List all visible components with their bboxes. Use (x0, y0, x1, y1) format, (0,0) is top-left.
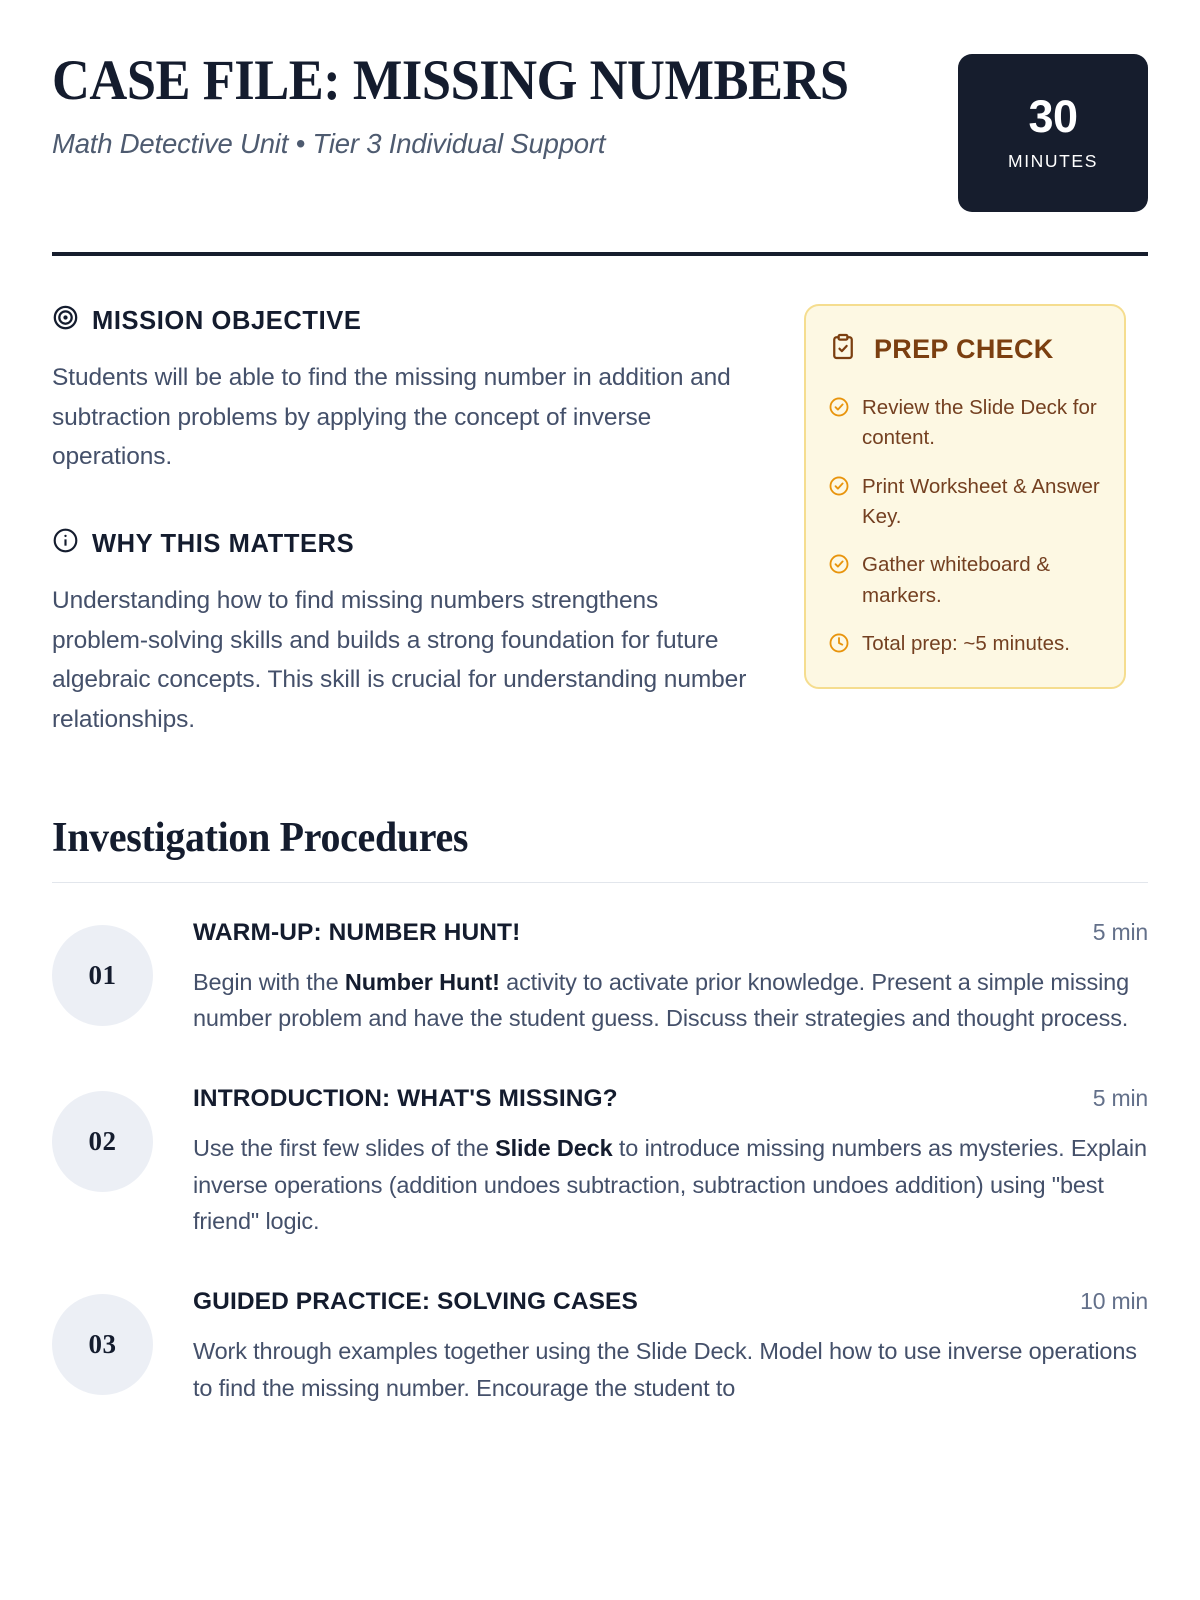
why-this-matters-text: Understanding how to find missing number… (52, 581, 752, 740)
step-body: WARM-UP: NUMBER HUNT! 5 min Begin with t… (193, 919, 1148, 1037)
page-header: CASE FILE: MISSING NUMBERS Math Detectiv… (52, 48, 1148, 212)
lesson-plan-page: CASE FILE: MISSING NUMBERS Math Detectiv… (0, 0, 1200, 1600)
prep-check-card: PREP CHECK Review the Slide Deck for con… (804, 304, 1126, 689)
prep-check-item-text: Total prep: ~5 minutes. (862, 629, 1070, 659)
procedures-divider (52, 882, 1148, 883)
duration-badge: 30 MINUTES (958, 54, 1148, 212)
step-duration: 5 min (1093, 1085, 1148, 1112)
prep-check-title: PREP CHECK (874, 332, 1054, 367)
step-header: GUIDED PRACTICE: SOLVING CASES 10 min (193, 1288, 1148, 1316)
mission-objective-text: Students will be able to find the missin… (52, 358, 752, 477)
check-circle-icon (828, 472, 850, 502)
clock-icon (828, 629, 850, 659)
step-header: INTRODUCTION: WHAT'S MISSING? 5 min (193, 1085, 1148, 1113)
prep-check-item-text: Print Worksheet & Answer Key. (862, 472, 1100, 533)
step-number-badge: 01 (52, 925, 153, 1026)
procedure-step: 01 WARM-UP: NUMBER HUNT! 5 min Begin wit… (52, 919, 1148, 1037)
procedures-step-list: 01 WARM-UP: NUMBER HUNT! 5 min Begin wit… (52, 919, 1148, 1407)
step-body: GUIDED PRACTICE: SOLVING CASES 10 min Wo… (193, 1288, 1148, 1406)
mission-objective-label: MISSION OBJECTIVE (92, 307, 362, 336)
mission-objective-heading: MISSION OBJECTIVE (52, 304, 752, 338)
step-description: Work through examples together using the… (193, 1333, 1148, 1406)
header-divider (52, 252, 1148, 256)
prep-check-item: Print Worksheet & Answer Key. (828, 472, 1100, 533)
prep-check-item: Total prep: ~5 minutes. (828, 629, 1100, 659)
header-text-group: CASE FILE: MISSING NUMBERS Math Detectiv… (52, 48, 918, 160)
step-description: Begin with the Number Hunt! activity to … (193, 964, 1148, 1037)
step-title: INTRODUCTION: WHAT'S MISSING? (193, 1085, 618, 1113)
prep-check-item-text: Review the Slide Deck for content. (862, 393, 1100, 454)
step-number: 03 (89, 1329, 117, 1360)
prep-check-item: Gather whiteboard & markers. (828, 550, 1100, 611)
target-icon (52, 304, 79, 338)
procedure-step: 03 GUIDED PRACTICE: SOLVING CASES 10 min… (52, 1288, 1148, 1406)
step-duration: 5 min (1093, 919, 1148, 946)
prep-check-item-text: Gather whiteboard & markers. (862, 550, 1100, 611)
step-title: GUIDED PRACTICE: SOLVING CASES (193, 1288, 638, 1316)
side-column: PREP CHECK Review the Slide Deck for con… (804, 304, 1126, 689)
step-title: WARM-UP: NUMBER HUNT! (193, 919, 520, 947)
step-number-badge: 03 (52, 1294, 153, 1395)
main-column: MISSION OBJECTIVE Students will be able … (52, 304, 752, 740)
clipboard-check-icon (828, 332, 858, 367)
procedure-step: 02 INTRODUCTION: WHAT'S MISSING? 5 min U… (52, 1085, 1148, 1240)
prep-check-header: PREP CHECK (828, 332, 1100, 367)
page-subtitle: Math Detective Unit • Tier 3 Individual … (52, 128, 918, 160)
step-description: Use the first few slides of the Slide De… (193, 1130, 1148, 1240)
procedures-heading: Investigation Procedures (52, 814, 1093, 862)
why-this-matters-heading: WHY THIS MATTERS (52, 527, 752, 561)
info-icon (52, 527, 79, 561)
why-this-matters-label: WHY THIS MATTERS (92, 530, 354, 559)
step-body: INTRODUCTION: WHAT'S MISSING? 5 min Use … (193, 1085, 1148, 1240)
step-number-badge: 02 (52, 1091, 153, 1192)
page-title: CASE FILE: MISSING NUMBERS (52, 52, 849, 110)
step-header: WARM-UP: NUMBER HUNT! 5 min (193, 919, 1148, 947)
prep-check-item: Review the Slide Deck for content. (828, 393, 1100, 454)
step-number: 02 (89, 1126, 117, 1157)
step-number: 01 (89, 960, 117, 991)
content-columns: MISSION OBJECTIVE Students will be able … (52, 304, 1148, 740)
duration-badge-value: 30 (1028, 94, 1077, 139)
check-circle-icon (828, 393, 850, 423)
check-circle-icon (828, 550, 850, 580)
duration-badge-unit: MINUTES (1008, 151, 1098, 172)
step-duration: 10 min (1080, 1288, 1148, 1315)
prep-check-list: Review the Slide Deck for content. Print… (828, 393, 1100, 659)
